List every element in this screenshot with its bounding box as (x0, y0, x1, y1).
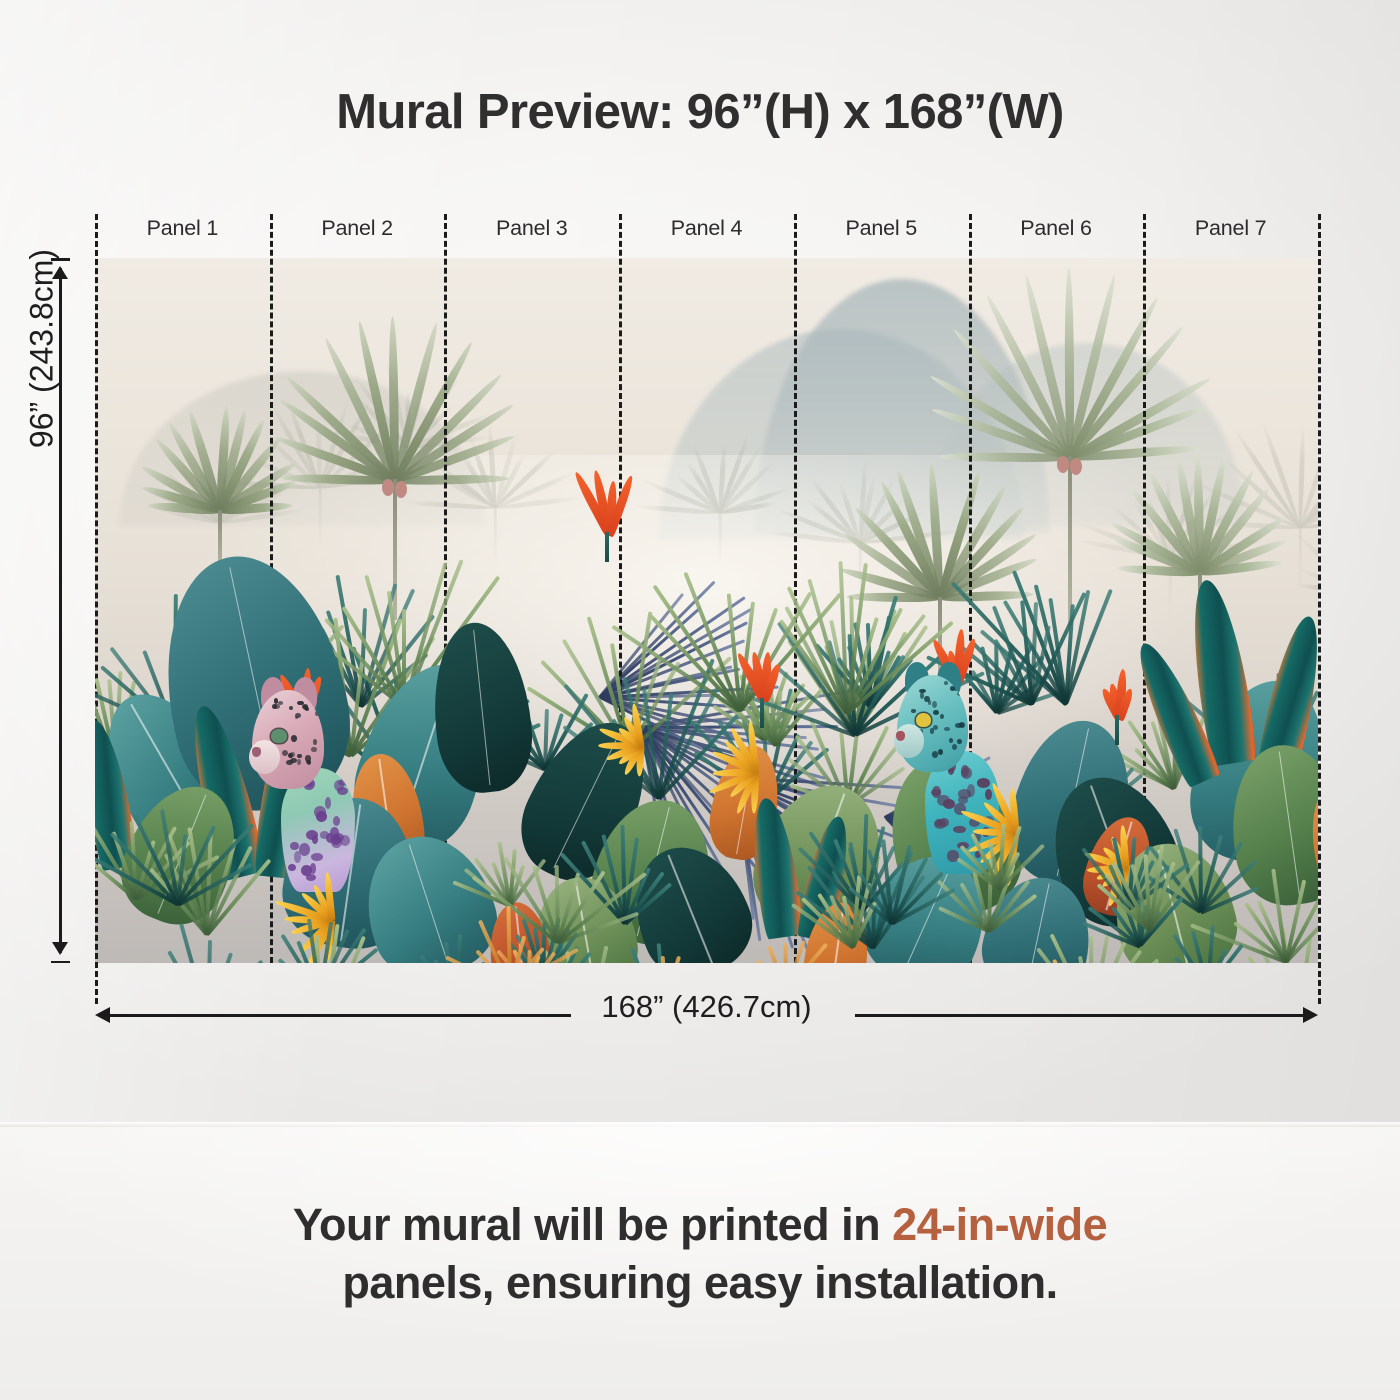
mural-artwork (95, 258, 1318, 963)
fan-grass (844, 713, 845, 714)
fan-grass (986, 931, 987, 932)
caption-prefix: Your mural will be printed in (293, 1199, 892, 1250)
palm-tree (288, 316, 503, 481)
fan-grass (1138, 945, 1139, 946)
fan-grass (1171, 788, 1172, 789)
mural-edge-guide (1318, 214, 1321, 1004)
mural-preview[interactable] (95, 258, 1318, 963)
leopard-eye (271, 729, 287, 743)
pink-leopard (245, 673, 365, 888)
fan-grass (556, 942, 557, 943)
fan-grass (134, 898, 135, 899)
fan-grass (853, 734, 854, 735)
fan-grass (870, 947, 871, 948)
fan-grass (205, 934, 206, 935)
banana-leaf (425, 618, 537, 797)
palm-tree (153, 406, 288, 511)
height-dimension-label: 96” (243.8cm) (24, 139, 61, 559)
fan-grass (1284, 961, 1285, 962)
fan-grass (622, 923, 623, 924)
fan-grass (762, 739, 763, 740)
bird-of-paradise-flower (760, 701, 761, 702)
background-palm (655, 418, 785, 513)
caption-accent: 24-in-wide (892, 1199, 1107, 1250)
caption-line-2: panels, ensuring easy installation. (0, 1254, 1400, 1312)
fan-grass (998, 888, 999, 889)
page-title: Mural Preview: 96”(H) x 168”(W) (0, 84, 1400, 140)
leopard-eye (916, 713, 931, 727)
panel-label-row: Panel 1 Panel 2 Panel 3 Panel 4 Panel 5 … (95, 216, 1318, 248)
leopard-nose (252, 747, 261, 757)
bird-of-paradise-flower (1115, 718, 1116, 719)
footer-caption: Your mural will be printed in 24-in-wide… (0, 1196, 1400, 1311)
width-dimension-arrow: 168” (426.7cm) (95, 1003, 1318, 1029)
width-dimension-label: 168” (426.7cm) (95, 989, 1318, 1025)
fan-grass (1148, 929, 1149, 930)
panel-label-3: Panel 3 (444, 216, 619, 248)
panel-label-5: Panel 5 (794, 216, 969, 248)
fan-grass (737, 710, 738, 711)
bird-of-paradise-flower (605, 535, 606, 536)
fan-grass (1063, 703, 1064, 704)
yellow-star-flower (640, 744, 641, 745)
leopard-muzzle (249, 740, 280, 774)
caption-line-1: Your mural will be printed in 24-in-wide (0, 1196, 1400, 1254)
leopard-muzzle (894, 724, 925, 758)
fan-grass (773, 745, 774, 746)
panel-label-2: Panel 2 (270, 216, 445, 248)
arrow-down-icon (52, 942, 68, 955)
yellow-star-flower (755, 771, 756, 772)
panel-label-6: Panel 6 (969, 216, 1144, 248)
yellow-star-flower (1125, 867, 1126, 868)
baseboard (0, 1122, 1400, 1127)
fan-grass (850, 947, 851, 948)
yellow-star-flower (331, 919, 332, 920)
panel-label-7: Panel 7 (1143, 216, 1318, 248)
palm-tree (943, 268, 1198, 458)
mural-edge-guide (95, 214, 98, 1004)
panel-label-4: Panel 4 (619, 216, 794, 248)
panel-label-1: Panel 1 (95, 216, 270, 248)
dimension-cap-bottom (51, 961, 70, 964)
fan-grass (1199, 911, 1200, 912)
fan-grass (890, 923, 891, 924)
fan-grass (176, 904, 177, 905)
fan-grass (1030, 704, 1031, 705)
